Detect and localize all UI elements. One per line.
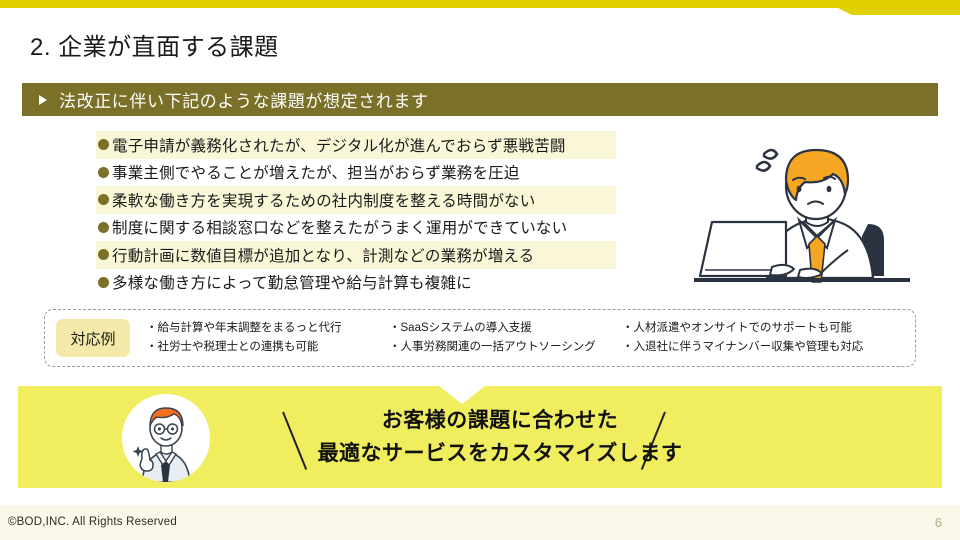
bullet-dot-icon xyxy=(98,249,109,260)
list-item-label: 柔軟な働き方を実現するための社内制度を整える時間がない xyxy=(112,189,535,211)
list-item-label: 行動計画に数値目標が追加となり、計測などの業務が増える xyxy=(112,244,534,266)
consultant-avatar-icon xyxy=(122,394,210,482)
footer-bar: ©BOD,INC. All Rights Reserved 6 xyxy=(0,505,960,540)
response-examples-label: 対応例 xyxy=(56,319,130,357)
list-item: 柔軟な働き方を実現するための社内制度を整える時間がない xyxy=(96,186,616,214)
list-item: 行動計画に数値目標が追加となり、計測などの業務が増える xyxy=(96,241,616,269)
page-number: 6 xyxy=(935,515,942,530)
bullet-dot-icon xyxy=(98,194,109,205)
list-item: 電子申請が義務化されたが、デジタル化が進んでおらず悪戦苦闘 xyxy=(96,131,616,159)
troubled-businessman-at-laptop-icon xyxy=(672,132,942,292)
response-example-item: ・SaaSシステムの導入支援 xyxy=(389,319,622,338)
response-examples-column: ・給与計算や年末調整をまるっと代行 ・社労士や税理士との連携も可能 xyxy=(146,319,389,357)
triangle-right-icon xyxy=(39,95,47,105)
callout-message-line-1: お客様の課題に合わせた xyxy=(290,404,710,437)
response-example-item: ・給与計算や年末調整をまるっと代行 xyxy=(146,319,389,338)
response-example-item: ・人事労務関連の一括アウトソーシング xyxy=(389,338,622,357)
list-item: 事業主側でやることが増えたが、担当がおらず業務を圧迫 xyxy=(96,159,616,187)
top-band-left-stripe xyxy=(0,0,838,8)
response-examples-box: 対応例 ・給与計算や年末調整をまるっと代行 ・社労士や税理士との連携も可能 ・S… xyxy=(44,309,916,367)
callout-message: お客様の課題に合わせた 最適なサービスをカスタマイズします xyxy=(290,404,710,470)
response-example-item: ・入退社に伴うマイナンバー収集や管理も対応 xyxy=(622,338,882,357)
section-header-bar: 法改正に伴い下記のような課題が想定されます xyxy=(22,83,938,116)
bullet-dot-icon xyxy=(98,167,109,178)
top-band-right-stripe xyxy=(830,0,960,15)
bullet-dot-icon xyxy=(98,277,109,288)
response-example-item: ・社労士や税理士との連携も可能 xyxy=(146,338,389,357)
list-item-label: 電子申請が義務化されたが、デジタル化が進んでおらず悪戦苦闘 xyxy=(112,134,566,156)
response-examples-columns: ・給与計算や年末調整をまるっと代行 ・社労士や税理士との連携も可能 ・SaaSシ… xyxy=(146,319,915,357)
response-example-item: ・人材派遣やオンサイトでのサポートも可能 xyxy=(622,319,882,338)
copyright-text: ©BOD,INC. All Rights Reserved xyxy=(8,516,177,528)
callout-message-line-2: 最適なサービスをカスタマイズします xyxy=(290,437,710,470)
response-examples-column: ・SaaSシステムの導入支援 ・人事労務関連の一括アウトソーシング xyxy=(389,319,622,357)
page-title: 2. 企業が直面する課題 xyxy=(30,27,279,62)
list-item-label: 事業主側でやることが増えたが、担当がおらず業務を圧迫 xyxy=(112,161,520,183)
response-examples-column: ・人材派遣やオンサイトでのサポートも可能 ・入退社に伴うマイナンバー収集や管理も… xyxy=(622,319,882,357)
top-accent-band xyxy=(0,0,960,16)
list-item-label: 制度に関する相談窓口などを整えたがうまく運用ができていない xyxy=(112,216,567,238)
bullet-dot-icon xyxy=(98,222,109,233)
list-item-label: 多様な働き方によって勤怠管理や給与計算も複雑に xyxy=(112,271,472,293)
bullet-dot-icon xyxy=(98,139,109,150)
section-header-label: 法改正に伴い下記のような課題が想定されます xyxy=(59,87,429,112)
list-item: 制度に関する相談窓口などを整えたがうまく運用ができていない xyxy=(96,214,616,242)
list-item: 多様な働き方によって勤怠管理や給与計算も複雑に xyxy=(96,269,616,297)
issues-list: 電子申請が義務化されたが、デジタル化が進んでおらず悪戦苦闘 事業主側でやることが… xyxy=(96,131,616,296)
